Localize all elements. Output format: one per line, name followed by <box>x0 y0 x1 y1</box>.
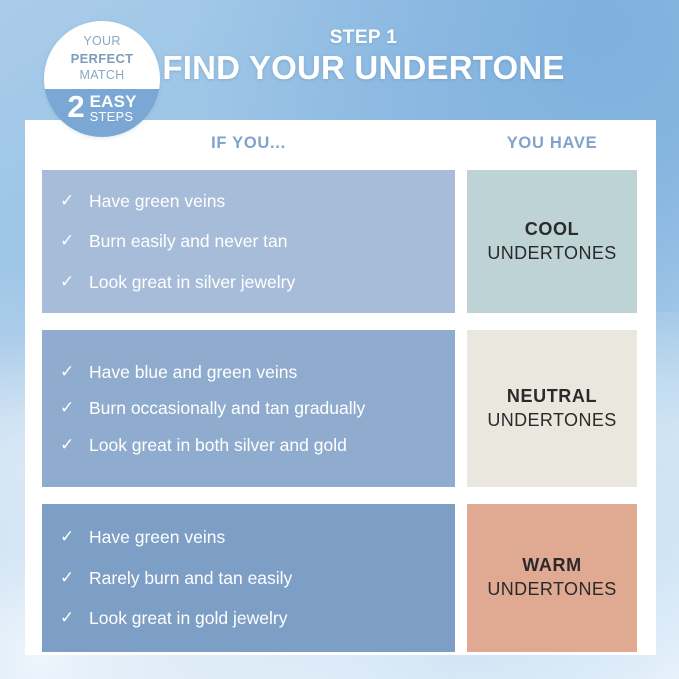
undertone-sublabel: UNDERTONES <box>487 242 616 265</box>
undertone-swatch-warm: WARM UNDERTONES <box>467 504 637 652</box>
list-item: ✓ Look great in silver jewelry <box>60 271 437 293</box>
list-item-label: Burn occasionally and tan gradually <box>89 397 437 419</box>
badge-step-count: 2 <box>67 92 84 121</box>
list-item-label: Rarely burn and tan easily <box>89 567 437 589</box>
list-item: ✓ Have green veins <box>60 526 437 548</box>
perfect-match-badge: YOUR PERFECT MATCH 2 EASY STEPS <box>44 21 160 137</box>
check-icon: ✓ <box>60 397 89 419</box>
list-item-label: Have blue and green veins <box>89 361 437 383</box>
check-icon: ✓ <box>60 526 89 548</box>
check-icon: ✓ <box>60 271 89 293</box>
badge-top-half: YOUR PERFECT MATCH <box>44 21 160 89</box>
column-header-you-have: YOU HAVE <box>467 134 637 153</box>
list-item: ✓ Have blue and green veins <box>60 361 437 383</box>
list-item-label: Look great in both silver and gold <box>89 434 437 456</box>
list-item: ✓ Burn easily and never tan <box>60 230 437 252</box>
check-icon: ✓ <box>60 190 89 212</box>
badge-word-easy: EASY <box>90 93 137 110</box>
table-row: ✓ Have blue and green veins ✓ Burn occas… <box>42 330 637 487</box>
list-item: ✓ Have green veins <box>60 190 437 212</box>
check-icon: ✓ <box>60 230 89 252</box>
undertone-name: COOL <box>525 219 579 241</box>
list-item: ✓ Look great in both silver and gold <box>60 434 437 456</box>
infographic-poster: STEP 1 FIND YOUR UNDERTONE YOUR PERFECT … <box>0 0 679 679</box>
check-icon: ✓ <box>60 607 89 629</box>
undertone-name: WARM <box>522 555 581 577</box>
badge-bottom-half: 2 EASY STEPS <box>44 89 160 137</box>
badge-step-words: EASY STEPS <box>90 92 137 123</box>
criteria-panel-neutral: ✓ Have blue and green veins ✓ Burn occas… <box>42 330 455 487</box>
undertone-swatch-cool: COOL UNDERTONES <box>467 170 637 313</box>
criteria-panel-cool: ✓ Have green veins ✓ Burn easily and nev… <box>42 170 455 313</box>
list-item: ✓ Burn occasionally and tan gradually <box>60 397 437 419</box>
list-item-label: Burn easily and never tan <box>89 230 437 252</box>
undertone-sublabel: UNDERTONES <box>487 578 616 601</box>
list-item-label: Look great in silver jewelry <box>89 271 437 293</box>
check-icon: ✓ <box>60 434 89 456</box>
list-item: ✓ Look great in gold jewelry <box>60 607 437 629</box>
list-item-label: Have green veins <box>89 526 437 548</box>
undertone-sublabel: UNDERTONES <box>487 409 616 432</box>
table-row: ✓ Have green veins ✓ Burn easily and nev… <box>42 170 637 313</box>
table-row: ✓ Have green veins ✓ Rarely burn and tan… <box>42 504 637 652</box>
badge-line-2: PERFECT <box>71 50 134 67</box>
undertone-name: NEUTRAL <box>507 386 597 408</box>
badge-line-3: MATCH <box>79 67 124 84</box>
column-headers: IF YOU... YOU HAVE <box>25 134 656 166</box>
list-item-label: Look great in gold jewelry <box>89 607 437 629</box>
badge-line-1: YOUR <box>83 33 120 50</box>
list-item: ✓ Rarely burn and tan easily <box>60 567 437 589</box>
criteria-panel-warm: ✓ Have green veins ✓ Rarely burn and tan… <box>42 504 455 652</box>
check-icon: ✓ <box>60 567 89 589</box>
list-item-label: Have green veins <box>89 190 437 212</box>
undertone-swatch-neutral: NEUTRAL UNDERTONES <box>467 330 637 487</box>
badge-word-steps: STEPS <box>90 110 137 123</box>
check-icon: ✓ <box>60 361 89 383</box>
undertone-grid: ✓ Have green veins ✓ Burn easily and nev… <box>42 170 637 652</box>
